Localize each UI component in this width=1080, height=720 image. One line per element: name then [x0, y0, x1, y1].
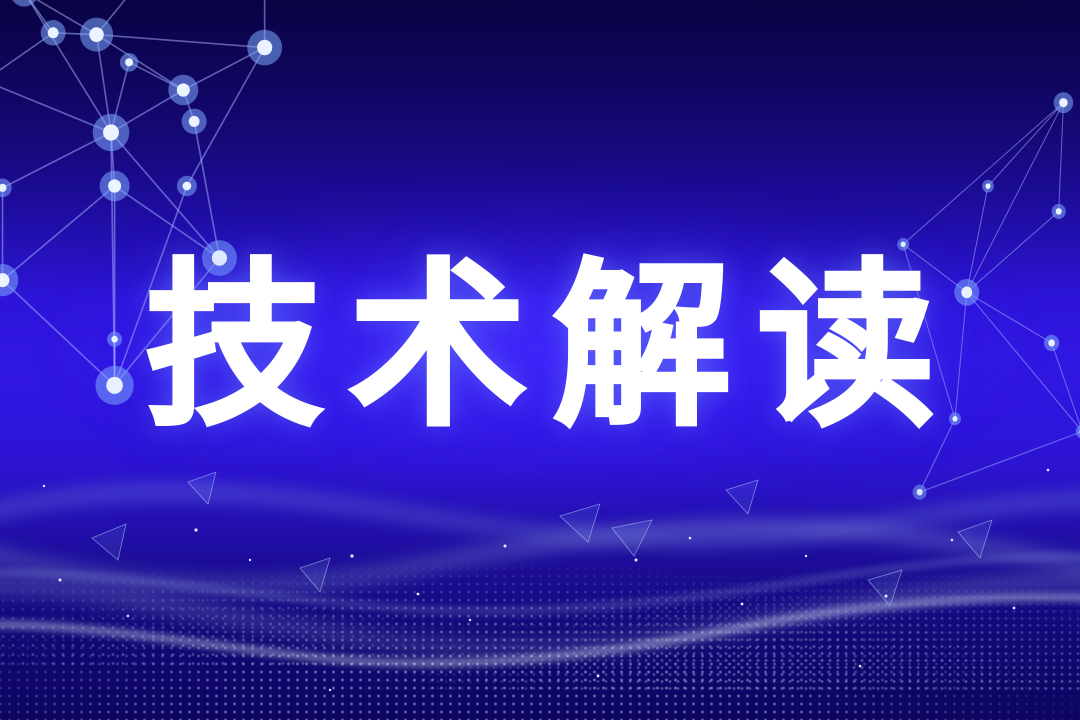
- page-title: 技术解读: [0, 258, 1080, 436]
- banner-canvas: 技术解读: [0, 0, 1080, 720]
